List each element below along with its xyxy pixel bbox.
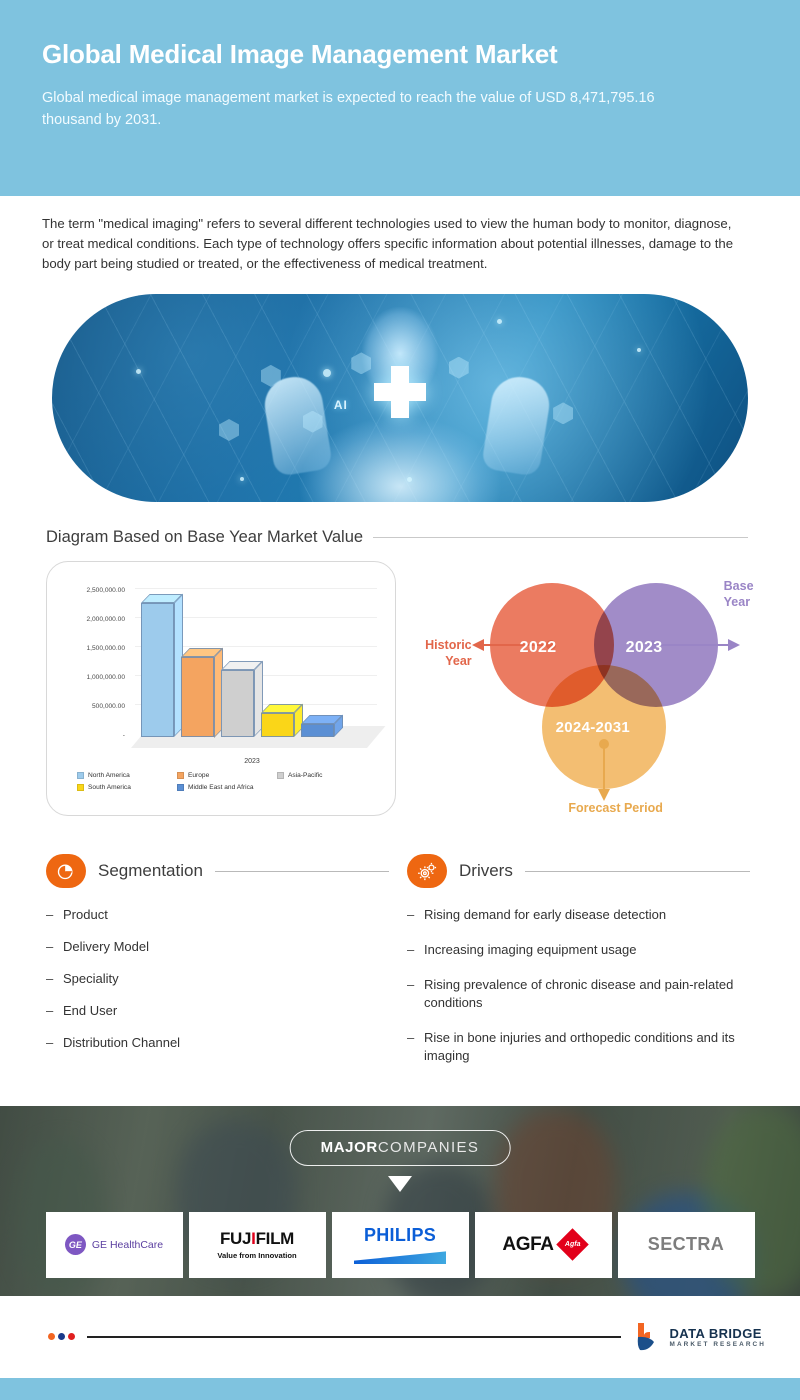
x-axis-label: 2023 — [127, 758, 377, 765]
fujifilm-tagline: Value from Innovation — [217, 1251, 296, 1260]
bar-front-face — [181, 657, 214, 738]
ai-label: AI — [334, 398, 348, 412]
y-tick: 500,000.00 — [59, 704, 125, 733]
drivers-header: Drivers — [407, 854, 750, 888]
fuji-part-1: FUJ — [220, 1229, 251, 1248]
y-tick: 1,000,000.00 — [59, 675, 125, 704]
hero-dot-4 — [637, 348, 641, 352]
chart-legend: North AmericaEuropeAsia-PacificSouth Ame… — [77, 772, 377, 796]
bar-front-face — [141, 603, 174, 737]
legend-swatch — [277, 772, 284, 779]
fuji-part-2: FILM — [256, 1229, 294, 1248]
drivers-column: Drivers Rising demand for early disease … — [407, 854, 750, 1082]
footer-dot — [68, 1333, 75, 1340]
segmentation-drivers-row: Segmentation ProductDelivery ModelSpecia… — [0, 816, 800, 1082]
segmentation-column: Segmentation ProductDelivery ModelSpecia… — [46, 854, 389, 1082]
hero-image: AI — [52, 294, 748, 502]
logo-card-sectra[interactable]: SECTRA — [618, 1212, 755, 1278]
legend-item: Europe — [177, 772, 277, 779]
footer-dot — [58, 1333, 65, 1340]
legend-label: Europe — [188, 772, 209, 779]
badge-bold-text: MAJOR — [321, 1139, 378, 1156]
legend-item: North America — [77, 772, 177, 779]
databridge-mark-icon — [633, 1321, 663, 1352]
bar-front-face — [261, 713, 294, 737]
bar-chart: 2,500,000.00 2,000,000.00 1,500,000.00 1… — [47, 562, 395, 815]
hero-image-wrapper: AI — [0, 284, 800, 502]
sectra-logo-text: SECTRA — [648, 1234, 724, 1255]
driver-item: Rising prevalence of chronic disease and… — [407, 976, 750, 1012]
legend-item: South America — [77, 784, 177, 791]
bottom-accent-bar — [0, 1378, 800, 1400]
major-companies-badge: MAJORCOMPANIES — [290, 1130, 511, 1166]
ge-monogram-icon: GE — [65, 1234, 86, 1255]
brand-subtitle: MARKET RESEARCH — [670, 1341, 766, 1348]
medical-cross-icon — [374, 366, 426, 418]
bar-chart-card: 2,500,000.00 2,000,000.00 1,500,000.00 1… — [46, 561, 396, 816]
plot-area — [127, 584, 377, 754]
databridge-logo[interactable]: DATA BRIDGE MARKET RESEARCH — [633, 1321, 766, 1352]
page-title: Global Medical Image Management Market — [42, 38, 572, 71]
gears-icon — [407, 854, 447, 888]
drivers-list: Rising demand for early disease detectio… — [407, 906, 750, 1065]
segmentation-item: Product — [46, 906, 389, 924]
y-tick: - — [59, 733, 125, 762]
base-line-2: Year — [724, 595, 784, 611]
diagram-section-title: Diagram Based on Base Year Market Value — [46, 528, 363, 547]
drivers-rule — [525, 871, 750, 872]
logo-card-ge-healthcare[interactable]: GE GE HealthCare — [46, 1212, 183, 1278]
page-footer: DATA BRIDGE MARKET RESEARCH — [0, 1296, 800, 1378]
diagram-row: 2,500,000.00 2,000,000.00 1,500,000.00 1… — [0, 547, 800, 816]
driver-item: Increasing imaging equipment usage — [407, 941, 750, 959]
diagram-section-heading: Diagram Based on Base Year Market Value — [0, 502, 800, 547]
footer-dot — [48, 1333, 55, 1340]
heading-rule — [373, 537, 748, 538]
driver-item: Rising demand for early disease detectio… — [407, 906, 750, 924]
page-subtitle: Global medical image management market i… — [42, 88, 682, 132]
legend-label: North America — [88, 772, 130, 779]
intro-paragraph: The term "medical imaging" refers to sev… — [0, 196, 800, 284]
badge-caret-icon — [388, 1176, 412, 1192]
badge-light-text: COMPANIES — [378, 1139, 480, 1156]
segmentation-header: Segmentation — [46, 854, 389, 888]
legend-label: Asia-Pacific — [288, 772, 322, 779]
agfa-diamond-icon: Agfa — [556, 1229, 589, 1262]
historic-line-2: Year — [404, 654, 472, 670]
legend-label: South America — [88, 784, 131, 791]
hero-dot-1 — [136, 369, 141, 374]
y-tick: 1,500,000.00 — [59, 646, 125, 675]
legend-label: Middle East and Africa — [188, 784, 254, 791]
segmentation-list: ProductDelivery ModelSpecialityEnd UserD… — [46, 906, 389, 1052]
agfa-logo-text: AGFA — [502, 1234, 553, 1256]
philips-wave-icon — [354, 1251, 446, 1264]
legend-swatch — [77, 784, 84, 791]
venn-caption-forecast: Forecast Period — [526, 801, 706, 817]
segmentation-title: Segmentation — [98, 861, 203, 881]
historic-line-1: Historic — [404, 638, 472, 654]
legend-item: Asia-Pacific — [277, 772, 377, 779]
venn-caption-base: Base Year — [724, 579, 784, 610]
venn-label-2024-2031: 2024-2031 — [556, 719, 630, 736]
bar-front-face — [221, 670, 254, 737]
segmentation-item: Distribution Channel — [46, 1034, 389, 1052]
gridline — [135, 588, 377, 589]
pie-chart-icon — [46, 854, 86, 888]
bar-front-face — [301, 724, 334, 737]
segmentation-item: End User — [46, 1002, 389, 1020]
legend-swatch — [177, 784, 184, 791]
venn-label-2023: 2023 — [626, 639, 663, 657]
logo-card-agfa[interactable]: AGFA Agfa — [475, 1212, 612, 1278]
driver-item: Rise in bone injuries and orthopedic con… — [407, 1029, 750, 1065]
base-line-1: Base — [724, 579, 784, 595]
venn-caption-historic: Historic Year — [404, 638, 472, 669]
venn-label-2022: 2022 — [520, 639, 557, 657]
y-tick: 2,500,000.00 — [59, 588, 125, 617]
logo-card-philips[interactable]: PHILIPS — [332, 1212, 469, 1278]
drivers-title: Drivers — [459, 861, 513, 881]
footer-dots — [48, 1333, 75, 1340]
venn-diagram: 2022 2023 2024-2031 Historic Year Base Y… — [404, 561, 780, 816]
y-axis-ticks: 2,500,000.00 2,000,000.00 1,500,000.00 1… — [59, 588, 125, 762]
y-tick: 2,000,000.00 — [59, 617, 125, 646]
segmentation-rule — [215, 871, 389, 872]
logo-card-fujifilm[interactable]: FUJIFILM Value from Innovation — [189, 1212, 326, 1278]
legend-item: Middle East and Africa — [177, 784, 277, 791]
agfa-mark-text: Agfa — [564, 1241, 580, 1248]
fujifilm-logo-text: FUJIFILM — [220, 1229, 294, 1249]
segmentation-item: Speciality — [46, 970, 389, 988]
footer-rule — [87, 1336, 621, 1338]
legend-swatch — [177, 772, 184, 779]
legend-swatch — [77, 772, 84, 779]
philips-logo-text: PHILIPS — [364, 1225, 436, 1246]
page-header: Global Medical Image Management Market G… — [0, 0, 800, 196]
brand-name: DATA BRIDGE — [670, 1326, 766, 1341]
company-logo-row: GE GE HealthCare FUJIFILM Value from Inn… — [0, 1212, 800, 1278]
databridge-wordmark: DATA BRIDGE MARKET RESEARCH — [670, 1326, 766, 1348]
major-companies-section: MAJORCOMPANIES GE GE HealthCare FUJIFILM… — [0, 1106, 800, 1296]
ge-logo-text: GE HealthCare — [92, 1239, 163, 1251]
segmentation-item: Delivery Model — [46, 938, 389, 956]
